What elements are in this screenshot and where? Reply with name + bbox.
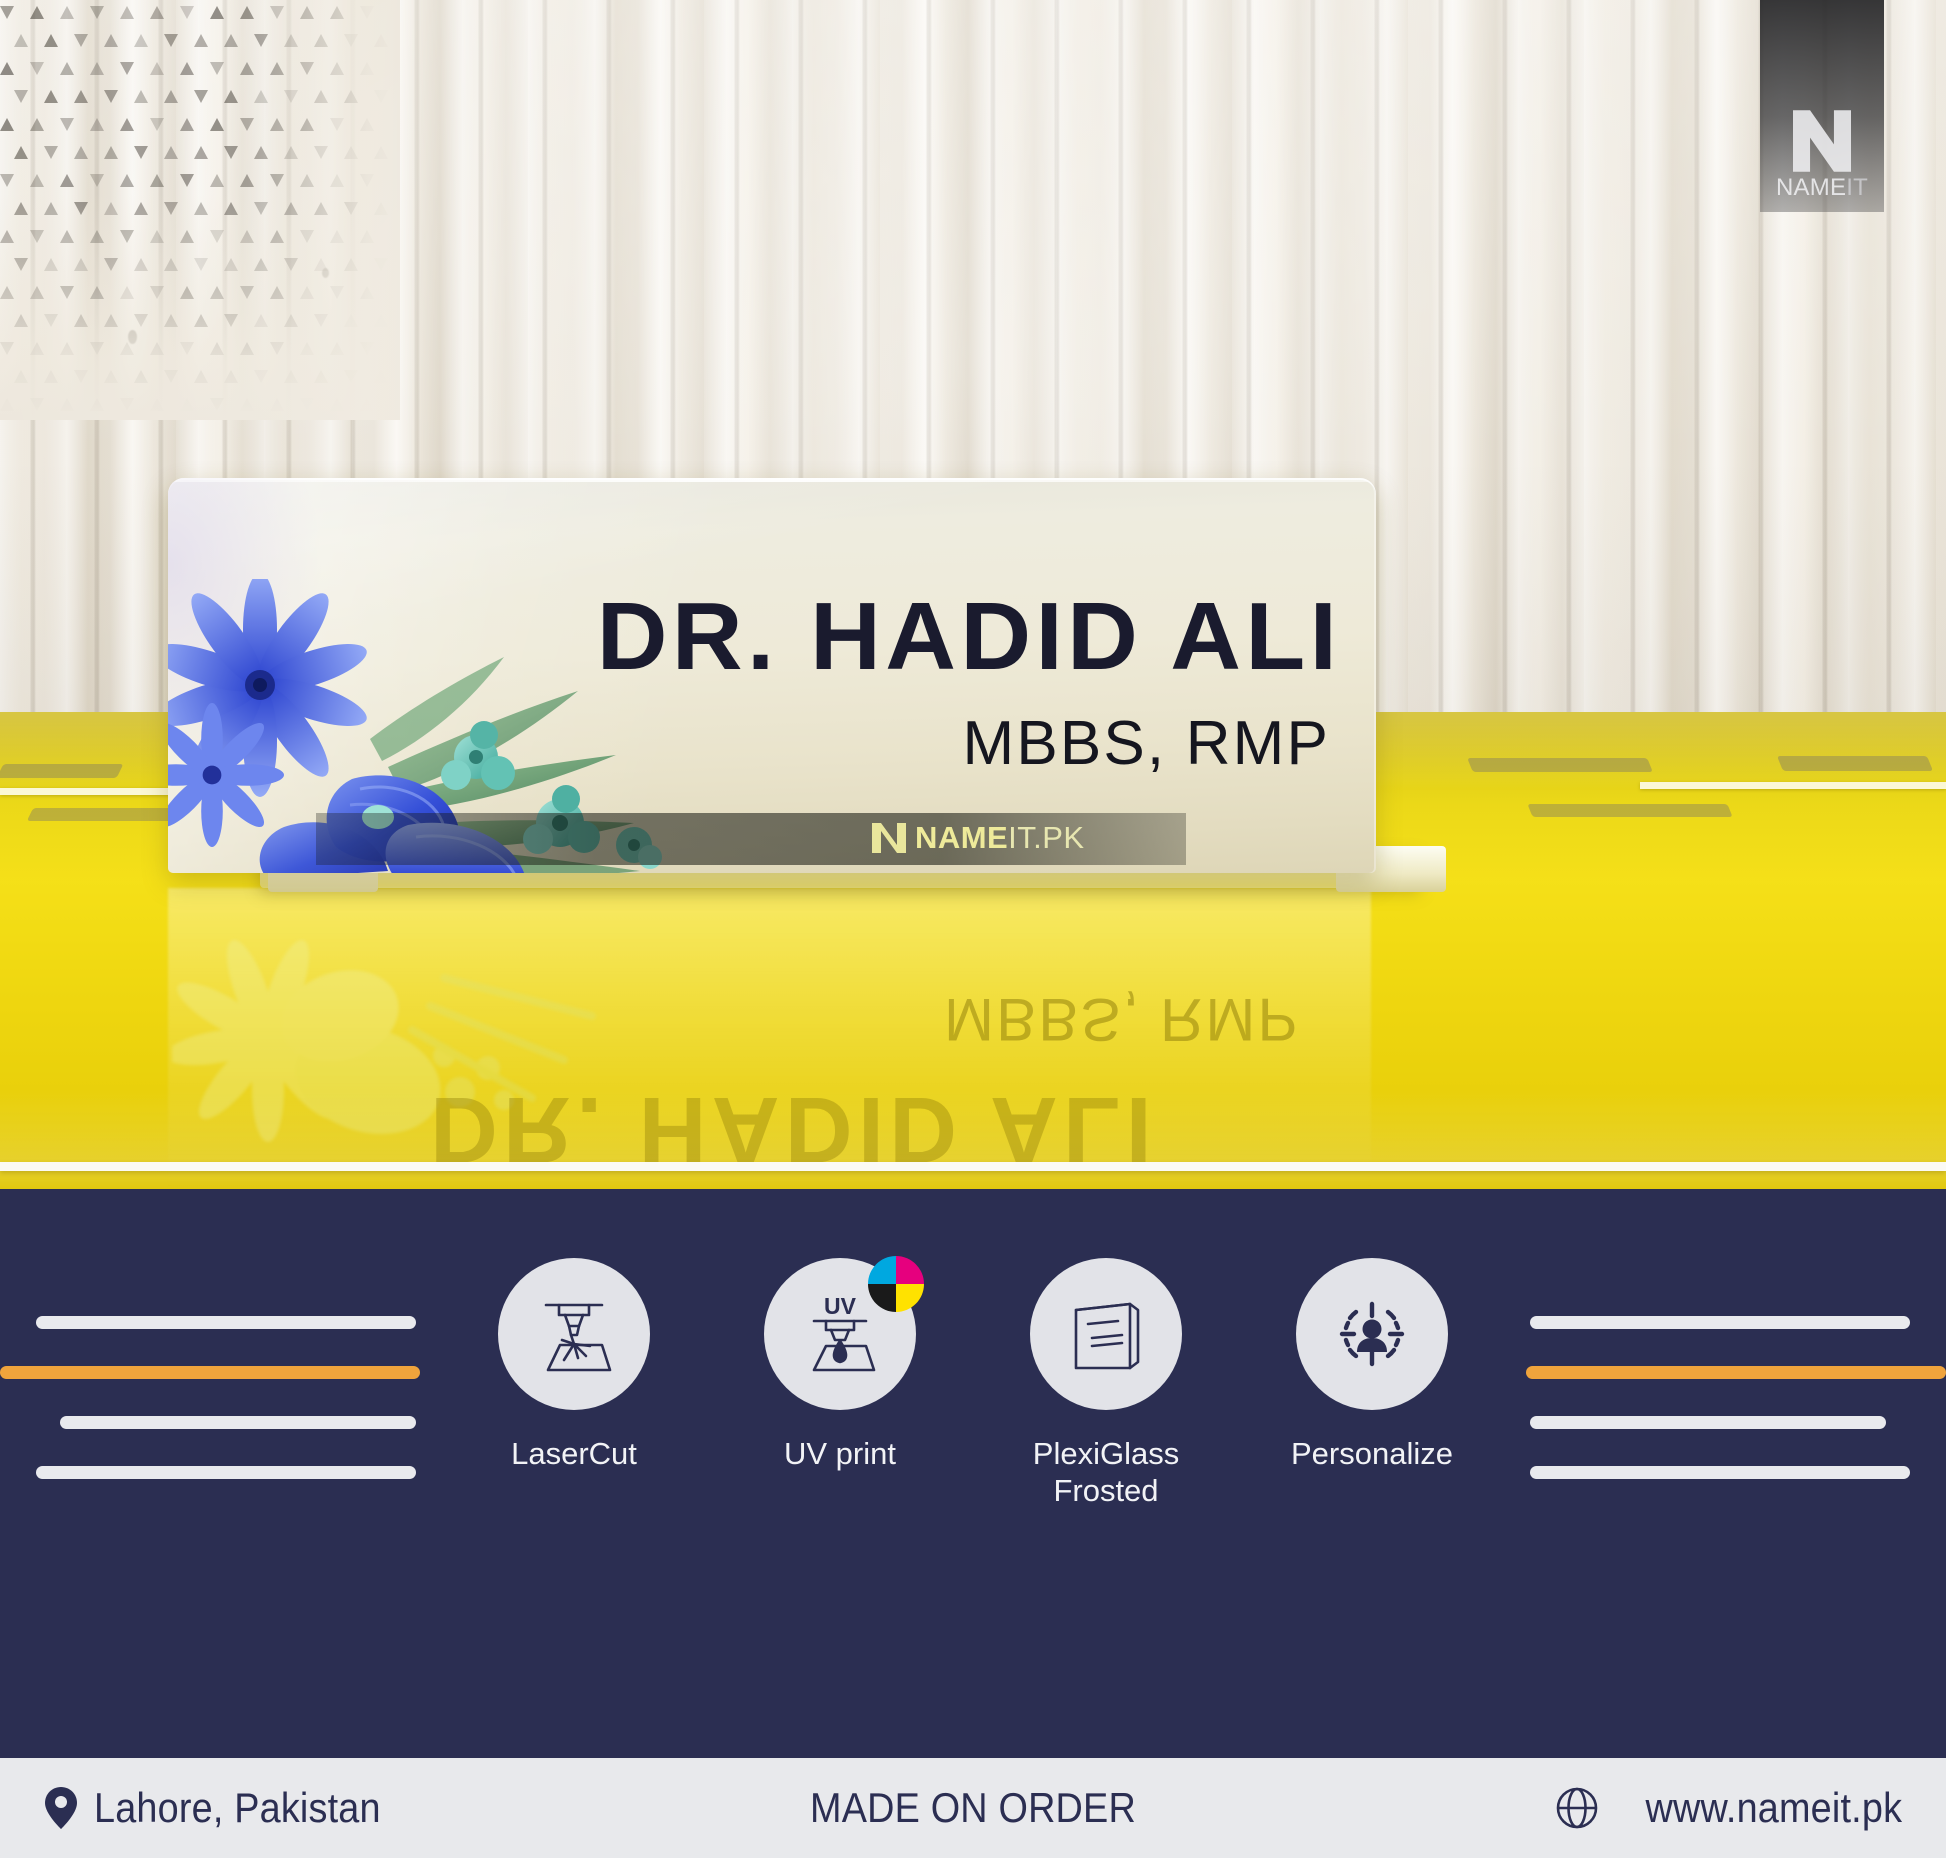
n-logo-icon [872, 823, 906, 853]
plate-watermark-text: NAMEIT.PK [915, 822, 1085, 853]
feature-laser-cut[interactable]: LaserCut [480, 1258, 668, 1473]
footer-location-text: Lahore, Pakistan [94, 1784, 381, 1832]
laser-cut-icon [528, 1288, 620, 1380]
product-marketing-image: DR. HADID ALI MBBS, RMP [0, 0, 1946, 1858]
cmyk-color-wheel-icon [868, 1256, 924, 1312]
footer-website[interactable]: www.nameit.pk [1555, 1784, 1902, 1832]
feature-band: LaserCut UV [0, 1196, 1946, 1758]
feature-plexiglass-frosted[interactable]: PlexiGlass Frosted [1012, 1258, 1200, 1509]
footer-website-text: www.nameit.pk [1645, 1784, 1902, 1832]
frosted-acrylic-panel: DR. HADID ALI MBBS, RMP NAMEIT.PK [168, 478, 1376, 873]
watermark-bold-part: NAME [915, 820, 1008, 855]
footer-location: Lahore, Pakistan [44, 1784, 413, 1832]
n-logo-icon [1793, 110, 1851, 172]
acrylic-name-plate: DR. HADID ALI MBBS, RMP NAMEIT.PK [150, 478, 1390, 898]
footer-bar: Lahore, Pakistan MADE ON ORDER www.namei… [0, 1758, 1946, 1858]
plate-name-text: DR. HADID ALI [597, 582, 1342, 692]
plexiglass-panel-icon [1060, 1288, 1152, 1380]
feature-label-line1: PlexiGlass [1033, 1436, 1179, 1471]
feature-uv-print[interactable]: UV UV print [746, 1258, 934, 1473]
globe-icon [1555, 1786, 1599, 1830]
feature-label: LaserCut [511, 1436, 637, 1473]
divider-white [0, 1162, 1946, 1171]
footer-made-on-order: MADE ON ORDER [792, 1784, 1154, 1832]
feature-label: UV print [784, 1436, 896, 1473]
reflected-credentials-text: MBBS, RMP [944, 985, 1300, 1054]
feature-label-line2: Frosted [1053, 1473, 1158, 1508]
feature-icon-circle [498, 1258, 650, 1410]
plate-credentials-text: MBBS, RMP [963, 708, 1330, 779]
feature-icon-circle [1296, 1258, 1448, 1410]
feature-label: Personalize [1291, 1436, 1453, 1473]
watermark-light-part: IT.PK [1008, 820, 1084, 855]
feature-list: LaserCut UV [0, 1258, 1946, 1678]
feature-icon-circle: UV [764, 1258, 916, 1410]
feature-icon-circle [1030, 1258, 1182, 1410]
map-pin-icon [44, 1786, 78, 1830]
personalize-target-icon [1326, 1288, 1418, 1380]
product-photo: DR. HADID ALI MBBS, RMP [0, 0, 1946, 1196]
feature-label: PlexiGlass Frosted [1033, 1436, 1179, 1509]
uv-icon-text: UV [824, 1293, 857, 1319]
divider-navy [0, 1189, 1946, 1196]
plate-watermark-bar: NAMEIT.PK [316, 813, 1186, 865]
feature-personalize[interactable]: Personalize [1278, 1258, 1466, 1473]
brand-watermark-text: NAMEIT [1776, 176, 1868, 200]
footer-made-on-order-text: MADE ON ORDER [810, 1784, 1136, 1832]
brand-watermark-topright: NAMEIT [1760, 0, 1884, 212]
